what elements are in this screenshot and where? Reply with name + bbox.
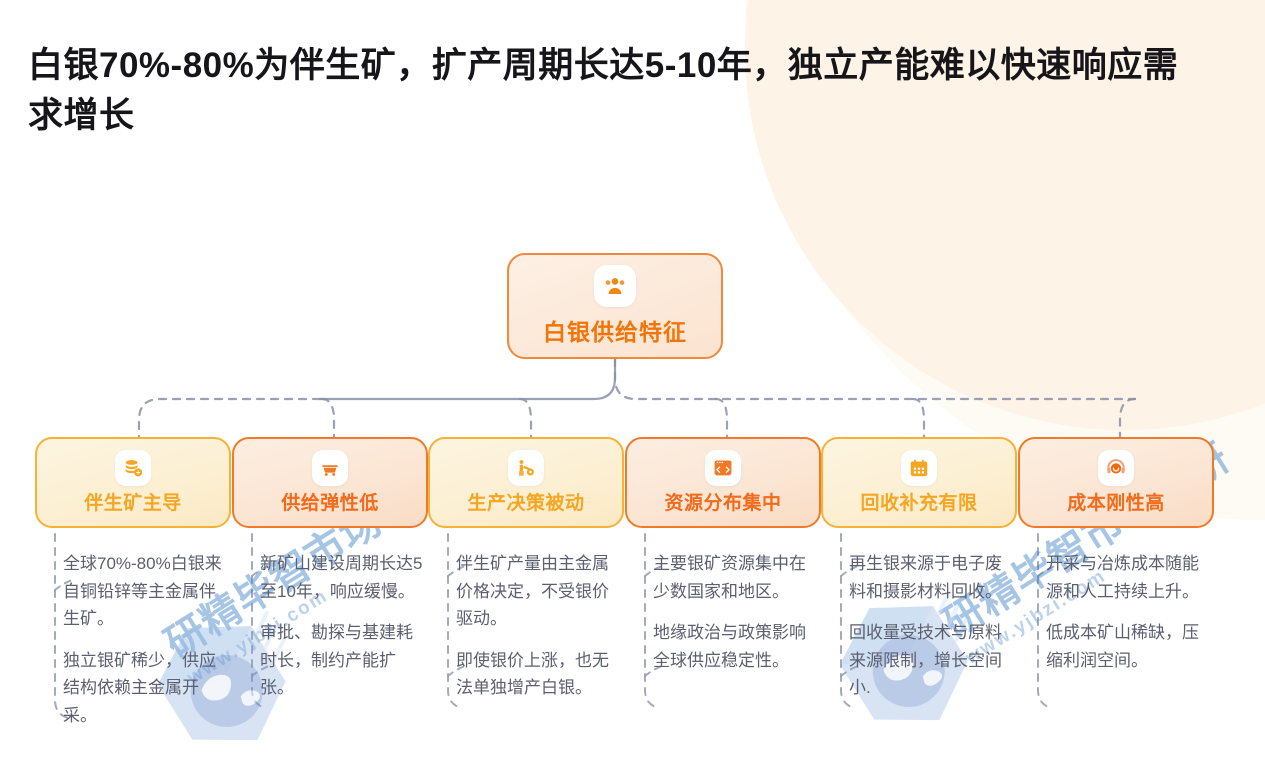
branch-body-6: 开采与冶炼成本随能源和人工持续上升。 低成本矿山稀缺，压缩利润空间。 xyxy=(1018,550,1214,674)
branch-card-5[interactable]: 回收补充有限 xyxy=(821,437,1017,528)
branch-1[interactable]: 伴生矿主导 全球70%-80%白银来自铜铅锌等主金属伴生矿。 独立银矿稀少，供应… xyxy=(35,437,231,729)
branch-card-4[interactable]: 资源分布集中 xyxy=(625,437,821,528)
branch-paragraph: 伴生矿产量由主金属价格决定，不受银价驱动。 xyxy=(456,550,624,633)
branch-card-3[interactable]: 生产决策被动 xyxy=(428,437,624,528)
branch-title-5: 回收补充有限 xyxy=(860,488,977,515)
branch-card-6[interactable]: 成本刚性高 xyxy=(1018,437,1214,528)
mine-cart-icon xyxy=(312,450,348,486)
branch-body-3: 伴生矿产量由主金属价格决定，不受银价驱动。 即使银价上涨，也无法单独增产白银。 xyxy=(428,550,624,702)
branch-paragraph: 再生银来源于电子废料和摄影材料回收。 xyxy=(849,550,1017,605)
branch-3[interactable]: 生产决策被动 伴生矿产量由主金属价格决定，不受银价驱动。 即使银价上涨，也无法单… xyxy=(428,437,624,702)
central-node-label: 白银供给特征 xyxy=(543,313,687,347)
branch-paragraph: 开采与冶炼成本随能源和人工持续上升。 xyxy=(1046,550,1214,605)
central-node[interactable]: 白银供给特征 xyxy=(507,253,723,359)
branch-paragraph: 即使银价上涨，也无法单独增产白银。 xyxy=(456,647,624,702)
branch-body-2: 新矿山建设周期长达5至10年，响应缓慢。 审批、勘探与基建耗时长，制约产能扩张。 xyxy=(232,550,428,702)
branch-card-2[interactable]: 供给弹性低 xyxy=(232,437,428,528)
branch-paragraph: 全球70%-80%白银来自铜铅锌等主金属伴生矿。 xyxy=(63,550,231,633)
headset-support-icon xyxy=(1098,450,1134,486)
branch-paragraph: 回收量受技术与原料来源限制，增长空间小. xyxy=(849,619,1017,702)
coins-stack-icon xyxy=(115,450,151,486)
branch-6[interactable]: 成本刚性高 开采与冶炼成本随能源和人工持续上升。 低成本矿山稀缺，压缩利润空间。 xyxy=(1018,437,1214,674)
branch-paragraph: 独立银矿稀少，供应结构依赖主金属开采。 xyxy=(63,647,231,730)
branch-title-4: 资源分布集中 xyxy=(664,488,781,515)
branch-paragraph: 审批、勘探与基建耗时长，制约产能扩张。 xyxy=(260,619,428,702)
branch-title-2: 供给弹性低 xyxy=(281,488,379,515)
branch-paragraph: 低成本矿山稀缺，压缩利润空间。 xyxy=(1046,619,1214,674)
branch-title-1: 伴生矿主导 xyxy=(84,488,182,515)
code-window-icon xyxy=(705,450,741,486)
branch-4[interactable]: 资源分布集中 主要银矿资源集中在少数国家和地区。 地缘政治与政策影响全球供应稳定… xyxy=(625,437,821,674)
users-icon xyxy=(594,265,636,307)
page-title: 白银70%-80%为伴生矿，扩产周期长达5-10年，独立产能难以快速响应需求增长 xyxy=(28,41,1203,140)
branch-body-4: 主要银矿资源集中在少数国家和地区。 地缘政治与政策影响全球供应稳定性。 xyxy=(625,550,821,674)
branch-title-6: 成本刚性高 xyxy=(1067,488,1165,515)
branch-card-1[interactable]: 伴生矿主导 xyxy=(35,437,231,528)
branch-2[interactable]: 供给弹性低 新矿山建设周期长达5至10年，响应缓慢。 审批、勘探与基建耗时长，制… xyxy=(232,437,428,702)
branch-paragraph: 地缘政治与政策影响全球供应稳定性。 xyxy=(653,619,821,674)
branch-paragraph: 新矿山建设周期长达5至10年，响应缓慢。 xyxy=(260,550,428,605)
branch-title-3: 生产决策被动 xyxy=(467,488,584,515)
branch-paragraph: 主要银矿资源集中在少数国家和地区。 xyxy=(653,550,821,605)
branch-body-5: 再生银来源于电子废料和摄影材料回收。 回收量受技术与原料来源限制，增长空间小. xyxy=(821,550,1017,702)
worker-excavator-icon xyxy=(508,450,544,486)
calendar-icon xyxy=(901,450,937,486)
branch-5[interactable]: 回收补充有限 再生银来源于电子废料和摄影材料回收。 回收量受技术与原料来源限制，… xyxy=(821,437,1017,702)
branch-body-1: 全球70%-80%白银来自铜铅锌等主金属伴生矿。 独立银矿稀少，供应结构依赖主金… xyxy=(35,550,231,729)
